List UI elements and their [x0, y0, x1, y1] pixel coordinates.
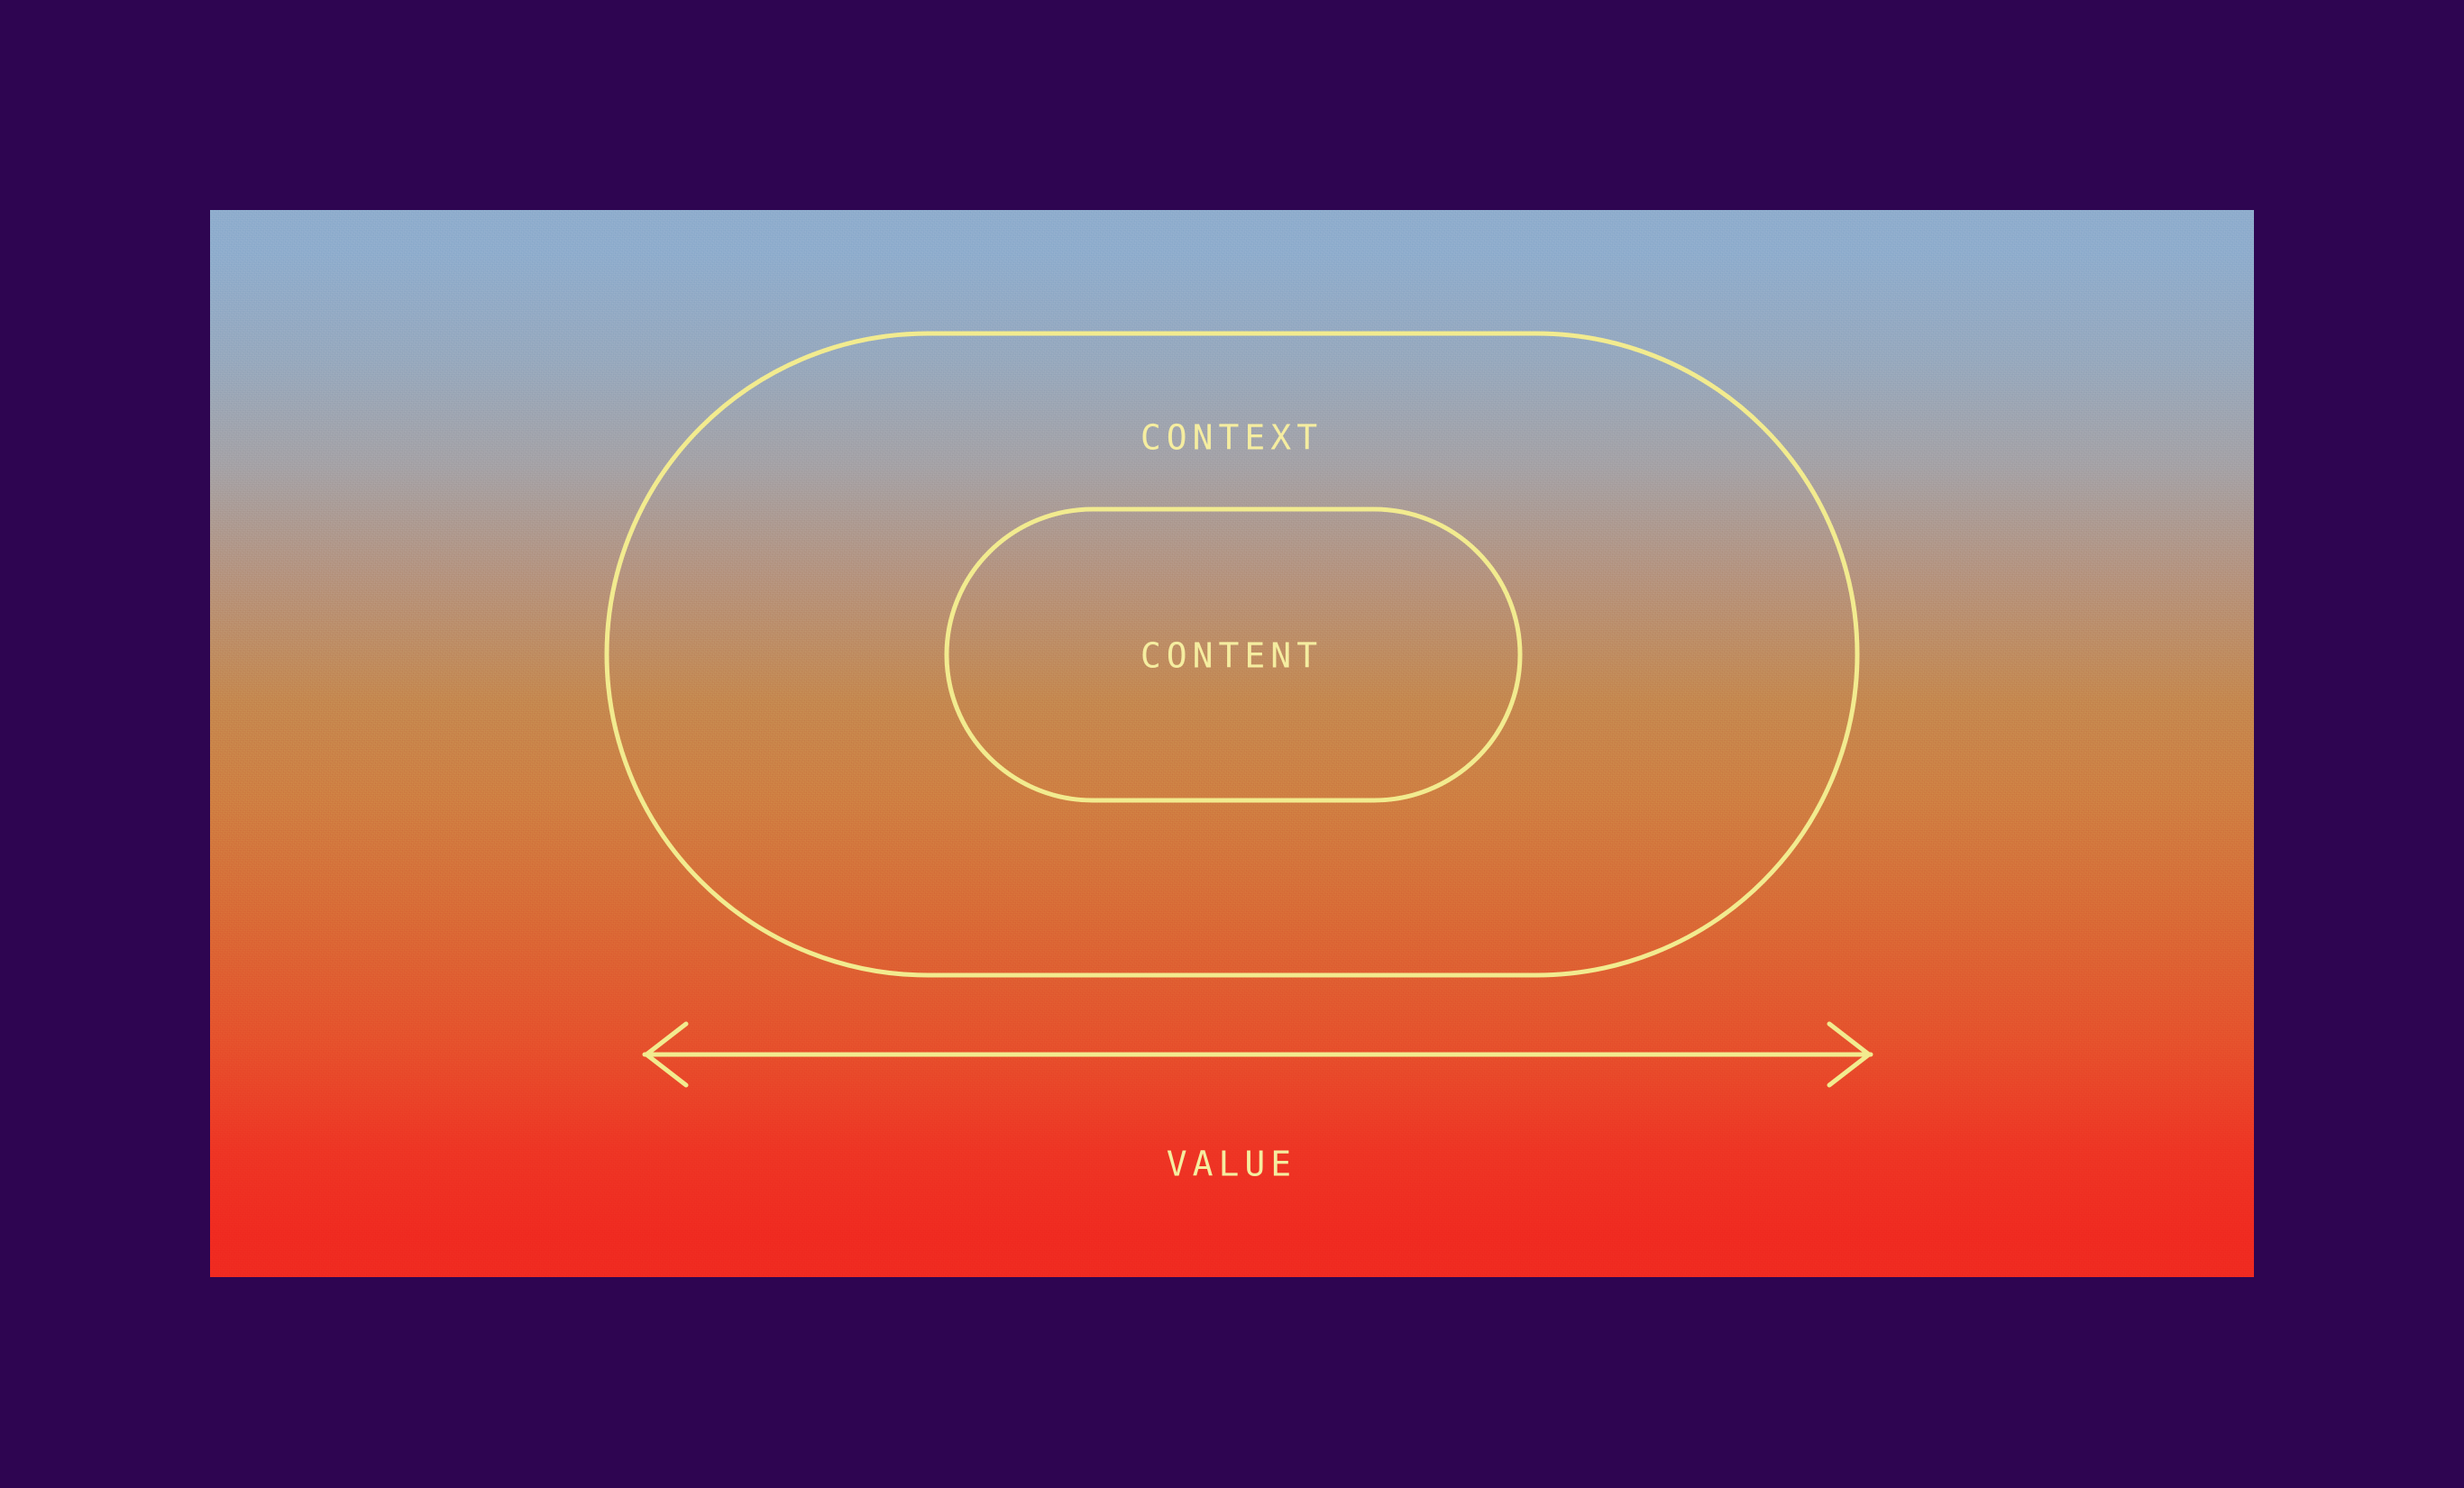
gradient-artwork-panel: CONTEXT CONTENT VALUE: [210, 210, 2254, 1277]
content-label: CONTENT: [1140, 636, 1323, 676]
context-label: CONTEXT: [1140, 418, 1323, 458]
diagram-vector-layer: CONTEXT CONTENT VALUE: [210, 210, 2254, 1277]
value-label: VALUE: [1167, 1145, 1296, 1184]
diagram-canvas: CONTEXT CONTENT VALUE: [0, 0, 2464, 1488]
